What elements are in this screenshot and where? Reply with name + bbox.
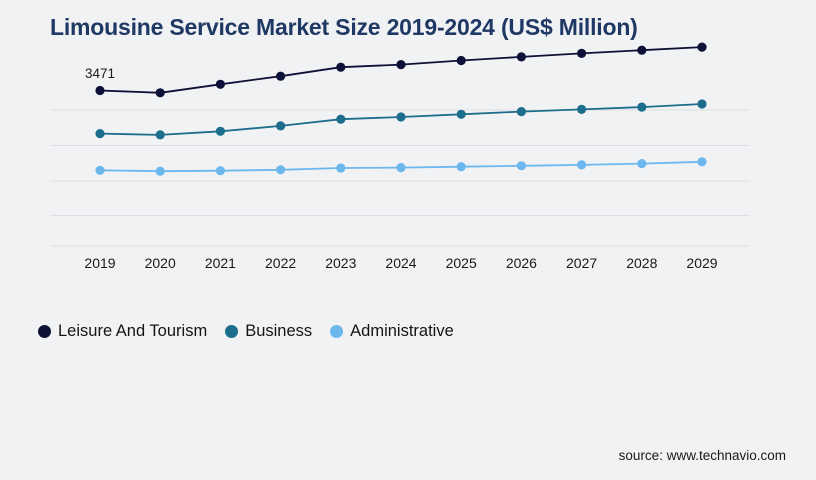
x-axis-tick-label: 2024 (385, 255, 416, 271)
data-point[interactable] (457, 110, 466, 119)
x-axis-tick-label: 2027 (566, 255, 597, 271)
data-point[interactable] (216, 166, 225, 175)
data-point[interactable] (457, 162, 466, 171)
data-point[interactable] (276, 121, 285, 130)
x-axis-tick-label: 2026 (506, 255, 537, 271)
data-point[interactable] (156, 130, 165, 139)
chart-legend: Leisure And TourismBusinessAdministrativ… (38, 322, 454, 341)
data-point[interactable] (396, 163, 405, 172)
chart-svg (0, 0, 816, 480)
data-point[interactable] (396, 60, 405, 69)
x-axis-tick-label: 2019 (84, 255, 115, 271)
data-point[interactable] (336, 63, 345, 72)
x-axis-tick-label: 2028 (626, 255, 657, 271)
legend-item-label: Leisure And Tourism (58, 322, 207, 341)
data-point[interactable] (517, 52, 526, 61)
x-axis-tick-label: 2023 (325, 255, 356, 271)
x-axis-tick-label: 2025 (446, 255, 477, 271)
legend-marker-icon (225, 325, 238, 338)
data-point[interactable] (156, 167, 165, 176)
data-point[interactable] (697, 157, 706, 166)
x-axis-tick-label: 2020 (145, 255, 176, 271)
data-point[interactable] (517, 161, 526, 170)
data-point[interactable] (637, 103, 646, 112)
x-axis-tick-label: 2022 (265, 255, 296, 271)
series-line-leisure-and-tourism (100, 47, 702, 93)
data-point[interactable] (577, 160, 586, 169)
data-point[interactable] (457, 56, 466, 65)
legend-item-label: Administrative (350, 322, 454, 341)
legend-item-leisure-and-tourism[interactable]: Leisure And Tourism (38, 322, 207, 341)
legend-marker-icon (330, 325, 343, 338)
chart-plot-area: 2019202020212022202320242025202620272028… (0, 0, 816, 480)
data-point[interactable] (697, 43, 706, 52)
legend-item-business[interactable]: Business (225, 322, 312, 341)
data-point[interactable] (95, 129, 104, 138)
data-point[interactable] (396, 112, 405, 121)
data-point-label: 3471 (85, 66, 115, 81)
data-point[interactable] (156, 88, 165, 97)
data-point[interactable] (216, 80, 225, 89)
data-point[interactable] (517, 107, 526, 116)
data-point[interactable] (577, 105, 586, 114)
data-point[interactable] (336, 163, 345, 172)
data-point[interactable] (577, 49, 586, 58)
data-point[interactable] (697, 99, 706, 108)
legend-item-administrative[interactable]: Administrative (330, 322, 454, 341)
data-point[interactable] (95, 166, 104, 175)
data-point[interactable] (637, 159, 646, 168)
data-point[interactable] (276, 165, 285, 174)
legend-marker-icon (38, 325, 51, 338)
source-attribution: source: www.technavio.com (619, 448, 786, 463)
x-axis-tick-label: 2029 (686, 255, 717, 271)
x-axis-tick-label: 2021 (205, 255, 236, 271)
data-point[interactable] (276, 72, 285, 81)
data-point[interactable] (216, 127, 225, 136)
data-point[interactable] (95, 86, 104, 95)
data-point[interactable] (336, 115, 345, 124)
data-point[interactable] (637, 46, 646, 55)
legend-item-label: Business (245, 322, 312, 341)
